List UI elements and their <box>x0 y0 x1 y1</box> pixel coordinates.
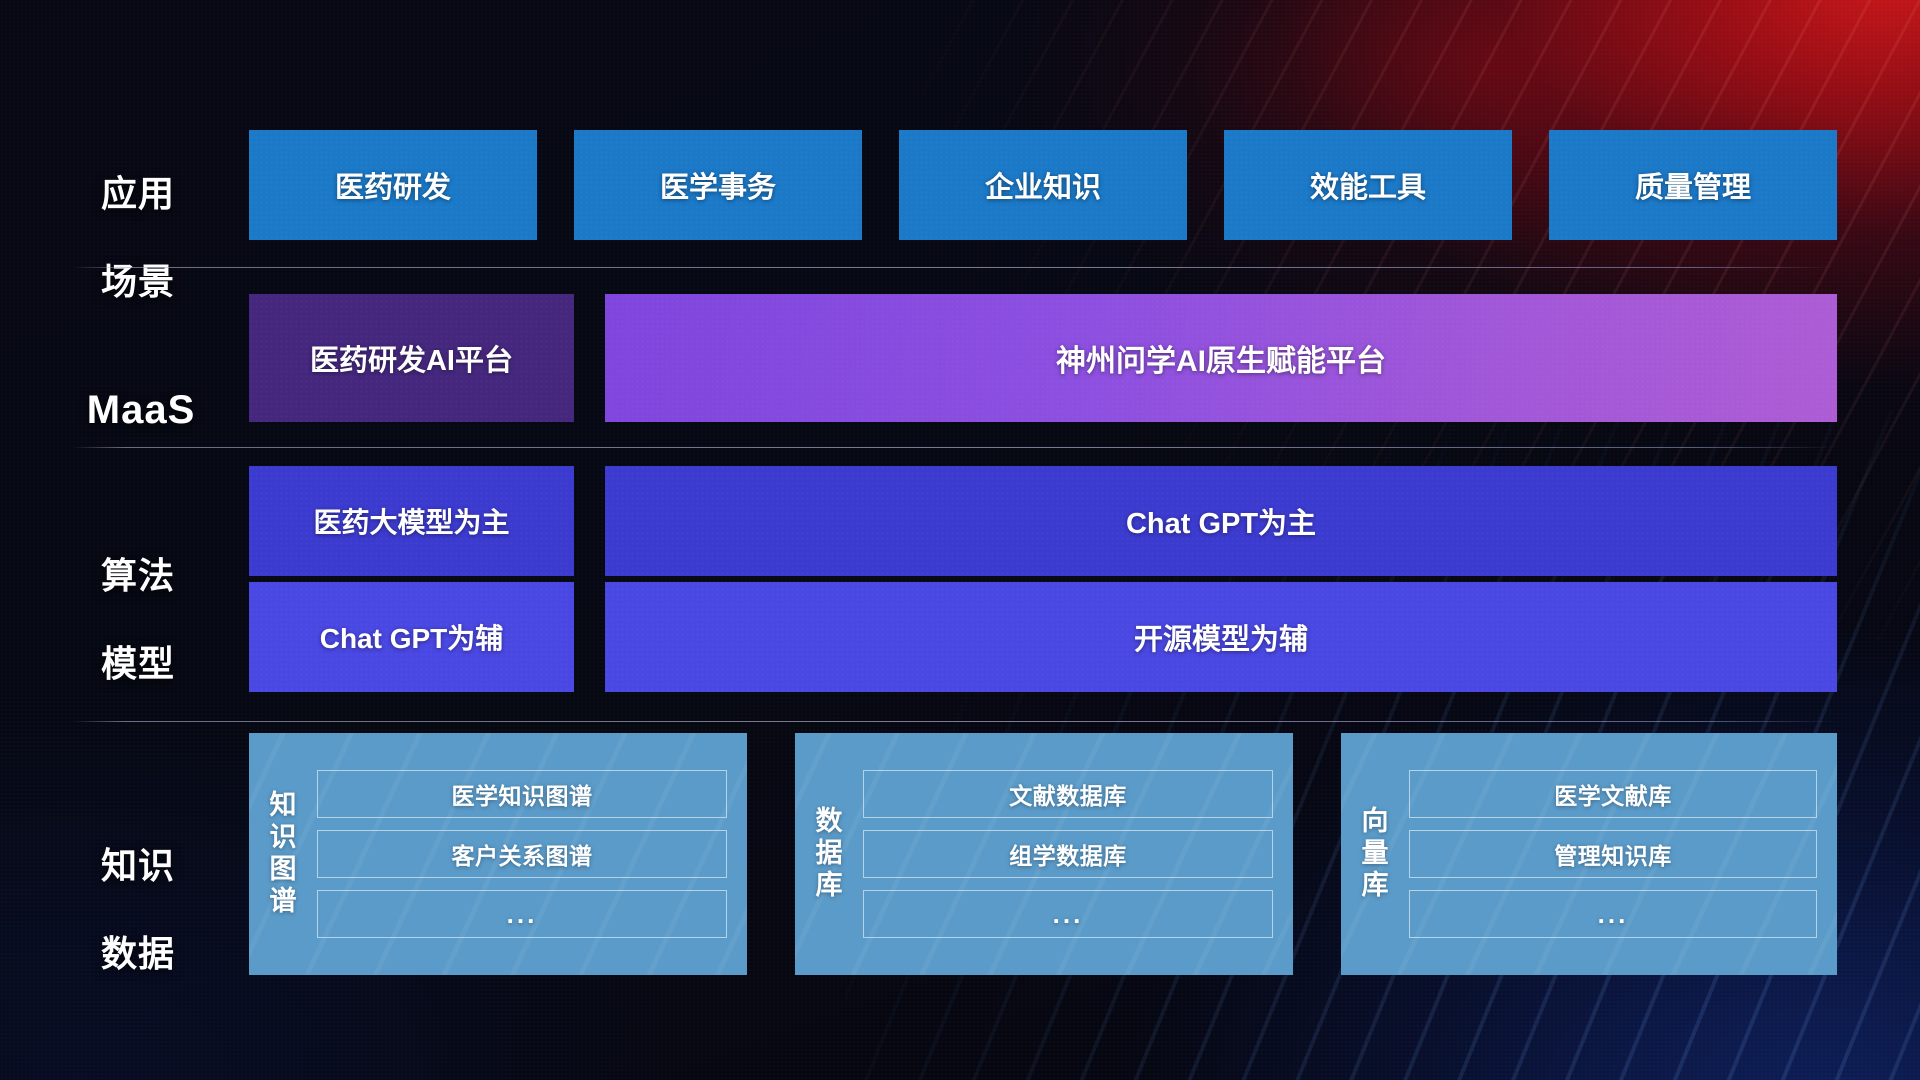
row-label-knowledge-data: 知识 数据 <box>72 800 204 1020</box>
algo-box-chatgpt-secondary[interactable]: Chat GPT为辅 <box>249 582 574 692</box>
algo-box-label: 开源模型为辅 <box>1134 616 1308 658</box>
row-label-maas: MaaS <box>66 337 216 483</box>
row-label-line-1: MaaS <box>66 386 216 435</box>
knowledge-card-item-more[interactable]: ... <box>1409 890 1817 938</box>
knowledge-card-item-list: 医学知识图谱 客户关系图谱 ... <box>311 733 747 975</box>
algo-box-label: Chat GPT为辅 <box>320 617 504 657</box>
maas-box-label: 医药研发AI平台 <box>310 337 513 379</box>
row-label-line-2: 模型 <box>72 642 204 686</box>
divider-after-algorithm-row <box>72 721 1837 722</box>
app-box-label: 企业知识 <box>985 164 1101 206</box>
algo-box-label: Chat GPT为主 <box>1126 500 1316 542</box>
algo-box-chatgpt-primary[interactable]: Chat GPT为主 <box>605 466 1837 576</box>
row-label-line-2: 数据 <box>72 932 204 976</box>
app-box-label: 质量管理 <box>1635 164 1751 206</box>
algo-box-label: 医药大模型为主 <box>313 501 509 541</box>
knowledge-card-item[interactable]: 客户关系图谱 <box>317 830 727 878</box>
row-label-algorithm-model: 算法 模型 <box>72 510 204 730</box>
row-label-line-1: 知识 <box>72 844 204 888</box>
knowledge-card-item[interactable]: 组学数据库 <box>863 830 1273 878</box>
knowledge-card-item[interactable]: 医学知识图谱 <box>317 770 727 818</box>
knowledge-card-label: 数据库 <box>795 733 857 975</box>
knowledge-card-item-more[interactable]: ... <box>317 890 727 938</box>
row-label-line-1: 算法 <box>72 554 204 598</box>
knowledge-card-item[interactable]: 文献数据库 <box>863 770 1273 818</box>
app-box-quality-management[interactable]: 质量管理 <box>1549 130 1837 240</box>
row-label-application-scenario: 应用 场景 <box>72 128 204 348</box>
knowledge-card-item-more[interactable]: ... <box>863 890 1273 938</box>
divider-after-maas-row <box>72 447 1837 448</box>
app-box-label: 效能工具 <box>1310 164 1426 206</box>
knowledge-card-label: 知识图谱 <box>249 733 311 975</box>
row-label-line-1: 应用 <box>72 172 204 216</box>
knowledge-card-item[interactable]: 管理知识库 <box>1409 830 1817 878</box>
app-box-medicine-rd[interactable]: 医药研发 <box>249 130 537 240</box>
maas-box-shenzhou-wenxue-platform[interactable]: 神州问学AI原生赋能平台 <box>605 294 1837 422</box>
app-box-label: 医药研发 <box>335 164 451 206</box>
knowledge-card-knowledge-graph[interactable]: 知识图谱 医学知识图谱 客户关系图谱 ... <box>249 733 747 975</box>
app-box-label: 医学事务 <box>660 164 776 206</box>
knowledge-card-label: 向量库 <box>1341 733 1403 975</box>
app-box-medical-affairs[interactable]: 医学事务 <box>574 130 862 240</box>
knowledge-card-database[interactable]: 数据库 文献数据库 组学数据库 ... <box>795 733 1293 975</box>
knowledge-card-vector-store[interactable]: 向量库 医学文献库 管理知识库 ... <box>1341 733 1837 975</box>
maas-box-medicine-rd-ai-platform[interactable]: 医药研发AI平台 <box>249 294 574 422</box>
knowledge-card-item-list: 医学文献库 管理知识库 ... <box>1403 733 1837 975</box>
app-box-enterprise-knowledge[interactable]: 企业知识 <box>899 130 1187 240</box>
divider-after-application-row <box>72 267 1837 268</box>
algo-box-open-source-model-secondary[interactable]: 开源模型为辅 <box>605 582 1837 692</box>
knowledge-card-item[interactable]: 医学文献库 <box>1409 770 1817 818</box>
knowledge-card-item-list: 文献数据库 组学数据库 ... <box>857 733 1293 975</box>
architecture-diagram: 应用 场景 医药研发 医学事务 企业知识 效能工具 质量管理 MaaS 医药研发… <box>0 0 1920 1080</box>
maas-box-label: 神州问学AI原生赋能平台 <box>1056 336 1386 380</box>
app-box-efficiency-tools[interactable]: 效能工具 <box>1224 130 1512 240</box>
algo-box-medicine-large-model-primary[interactable]: 医药大模型为主 <box>249 466 574 576</box>
